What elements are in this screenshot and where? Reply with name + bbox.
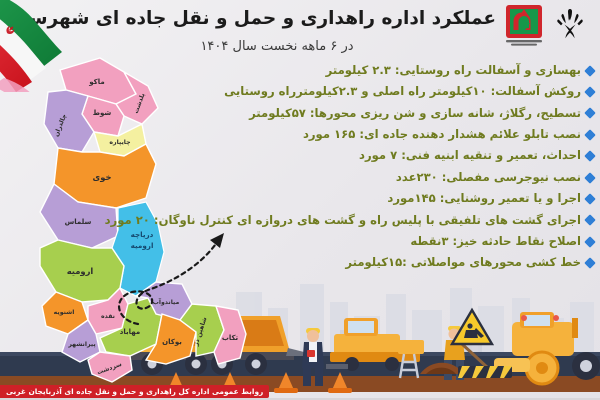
county-label-oshnavieh: اشنویه xyxy=(54,309,75,316)
iran-national-emblem-icon xyxy=(550,3,590,47)
header: عملکرد اداره راهداری و حمل و نقل جاده ای… xyxy=(0,0,600,62)
blue-diamond-bullet-icon xyxy=(584,172,595,183)
county-label-mahabad: مهاباد xyxy=(120,328,140,336)
iran-waving-flag-icon xyxy=(0,0,88,92)
list-item: اجرا و یا تعمیر روشنایی: ۱۴۵مورد xyxy=(150,188,594,209)
blue-diamond-bullet-icon xyxy=(584,108,595,119)
blue-diamond-bullet-icon xyxy=(584,193,595,204)
statistics-list: بهسازی و آسفالت راه روستایی: ۲.۳ کیلومتر… xyxy=(150,60,594,274)
page-title: عملکرد اداره راهداری و حمل و نقل جاده ای… xyxy=(58,9,496,29)
blue-diamond-bullet-icon xyxy=(584,236,595,247)
county-label-shot: شوط xyxy=(93,109,112,117)
footer-credit-bar: روابط عمومی اداره کل راهداری و حمل و نقل… xyxy=(0,385,269,398)
blue-diamond-bullet-icon xyxy=(584,258,595,269)
list-item-label: تسطیح، رگلاژ، شانه سازی و شن ریزی محورها… xyxy=(249,108,581,120)
county-shape-chaldoran xyxy=(44,90,94,152)
county-label-urmia: ارومیه xyxy=(67,266,94,277)
list-item: تسطیح، رگلاژ، شانه سازی و شن ریزی محورها… xyxy=(150,103,594,124)
list-item-label: اجرای گشت های تلفیقی با پلیس راه و گشت ه… xyxy=(105,215,581,227)
list-item: خط کشی محورهای مواصلاتی :۱۵کیلومتر xyxy=(150,253,594,274)
blue-diamond-bullet-icon xyxy=(584,65,595,76)
list-item: نصب تابلو علائم هشدار دهنده جاده ای: ۱۶۵… xyxy=(150,124,594,145)
infographic-root: عملکرد اداره راهداری و حمل و نقل جاده ای… xyxy=(0,0,600,400)
list-item-label: احداث، تعمیر و تنقیه ابنیه فنی: ۷ مورد xyxy=(359,150,581,162)
county-label-piranshahr: پیرانشهر xyxy=(67,341,95,348)
list-item-label: اصلاح نقاط حادثه خیز: ۳نقطه xyxy=(410,236,581,248)
blue-diamond-bullet-icon xyxy=(584,129,595,140)
county-label-khoy: خوی xyxy=(93,172,112,183)
county-label-salmas: سلماس xyxy=(65,218,92,226)
list-item: بهسازی و آسفالت راه روستایی: ۲.۳ کیلومتر xyxy=(150,60,594,81)
county-label-bukan: بوکان xyxy=(162,338,182,346)
blue-diamond-bullet-icon xyxy=(584,215,595,226)
blue-diamond-bullet-icon xyxy=(584,151,595,162)
rahdari-organization-logo-icon xyxy=(500,3,548,49)
footer-credit-text: روابط عمومی اداره کل راهداری و حمل و نقل… xyxy=(6,387,263,396)
list-item-label: اجرا و یا تعمیر روشنایی: ۱۴۵مورد xyxy=(387,193,581,205)
list-item: احداث، تعمیر و تنقیه ابنیه فنی: ۷ مورد xyxy=(150,146,594,167)
list-item: اجرای گشت های تلفیقی با پلیس راه و گشت ه… xyxy=(150,210,594,231)
list-item-label: روکش آسفالت: ۱۰کیلومتر راه اصلی و ۲.۳کیل… xyxy=(224,86,581,98)
county-label-naghadeh: نقده xyxy=(101,313,115,320)
barrier-icon xyxy=(458,366,512,378)
list-item: روکش آسفالت: ۱۰کیلومتر راه اصلی و ۲.۳کیل… xyxy=(150,81,594,102)
list-item-label: بهسازی و آسفالت راه روستایی: ۲.۳ کیلومتر xyxy=(326,65,581,77)
list-item: اصلاح نقاط حادثه خیز: ۳نقطه xyxy=(150,231,594,252)
county-label-makoo: ماکو xyxy=(88,78,104,86)
county-label-miandoab: میاندوآب xyxy=(153,297,180,306)
list-item-label: خط کشی محورهای مواصلاتی :۱۵کیلومتر xyxy=(345,257,581,269)
list-item-label: نصب نیوجرسی مفصلی: ۲۳۰عدد xyxy=(396,172,581,184)
header-logos xyxy=(500,3,596,49)
blue-diamond-bullet-icon xyxy=(584,86,595,97)
county-label-takab: تکاب xyxy=(222,334,239,342)
page-subtitle: در ۶ ماهه نخست سال ۱۴۰۴ xyxy=(58,39,496,54)
list-item-label: نصب تابلو علائم هشدار دهنده جاده ای: ۱۶۵… xyxy=(303,129,581,141)
county-label-chaypareh: چایپاره xyxy=(109,139,130,146)
list-item: نصب نیوجرسی مفصلی: ۲۳۰عدد xyxy=(150,167,594,188)
